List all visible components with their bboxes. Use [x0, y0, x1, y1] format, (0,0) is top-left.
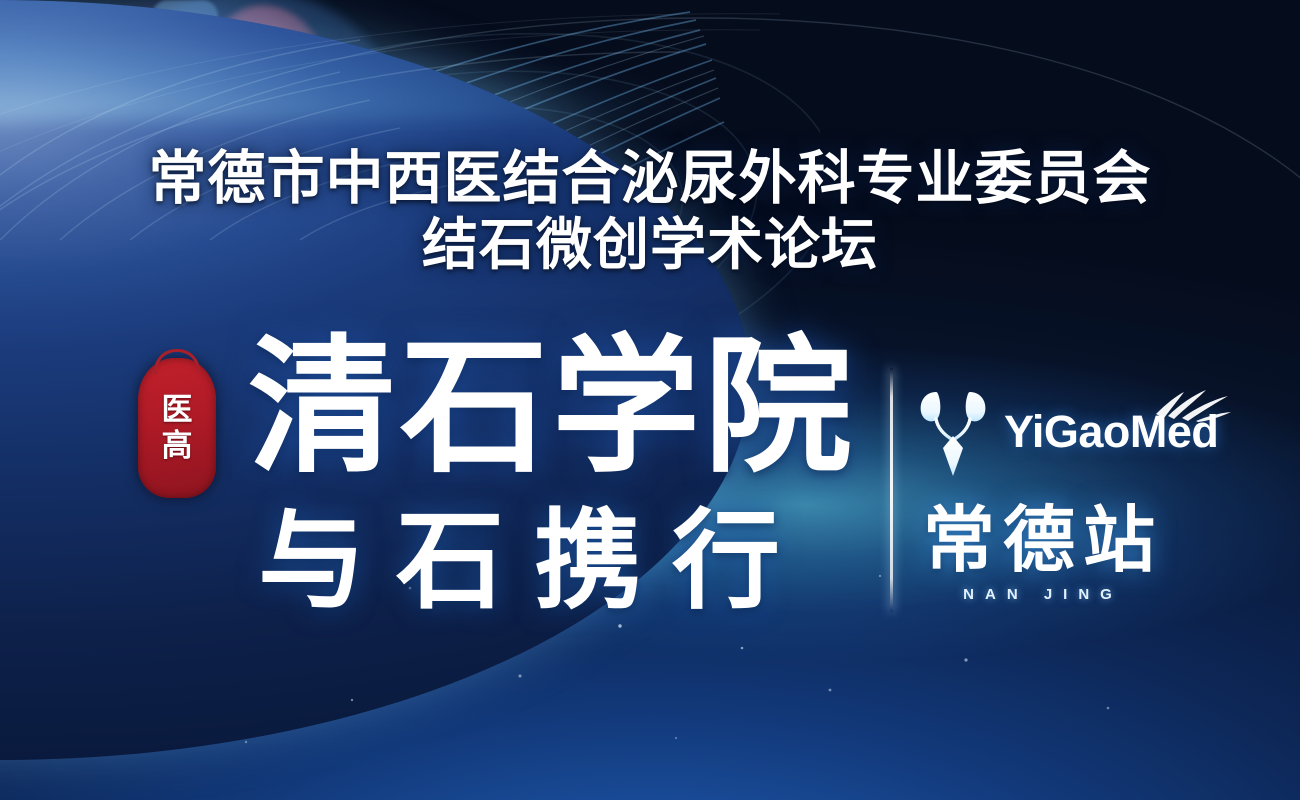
kidney-ureter-icon — [916, 388, 990, 476]
vertical-divider — [890, 368, 893, 612]
seal-char-bottom: 高 — [162, 430, 193, 462]
swoosh-fan-icon — [1154, 384, 1232, 422]
station-name-cn: 常德站 — [898, 502, 1188, 580]
poster-content: 常德市中西医结合泌尿外科专业委员会 结石微创学术论坛 医 高 清石学院 与石携行 — [0, 0, 1300, 800]
station-name-en: NAN JING — [898, 586, 1188, 603]
medical-seal: 医 高 — [138, 358, 216, 498]
headline-line-1: 清石学院 — [248, 332, 856, 484]
seal-text: 医 高 — [138, 358, 216, 498]
conference-poster: 常德市中西医结合泌尿外科专业委员会 结石微创学术论坛 医 高 清石学院 与石携行 — [0, 0, 1300, 800]
station-block: 常德站 NAN JING — [898, 502, 1188, 603]
headline-line-2: 与石携行 — [258, 505, 810, 617]
conference-title-block: 常德市中西医结合泌尿外科专业委员会 结石微创学术论坛 — [0, 146, 1300, 278]
title-line-2: 结石微创学术论坛 — [0, 212, 1300, 278]
brand-wordmark: YiGaoMed — [1004, 406, 1218, 458]
brand-lockup: YiGaoMed — [916, 388, 1218, 476]
seal-char-top: 医 — [162, 394, 193, 426]
title-line-1: 常德市中西医结合泌尿外科专业委员会 — [0, 146, 1300, 212]
